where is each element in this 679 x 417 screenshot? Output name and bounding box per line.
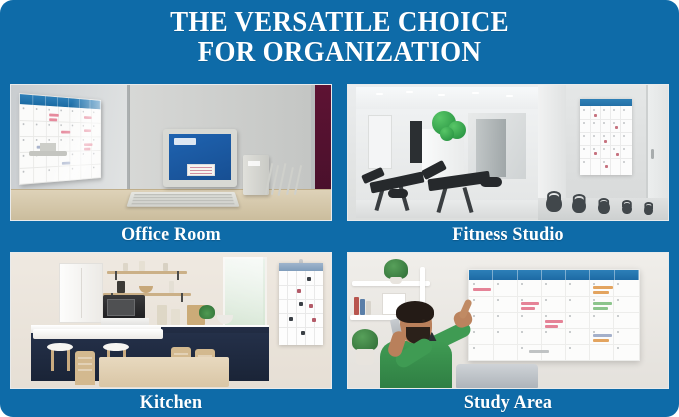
study-plant-pot <box>390 277 402 284</box>
shelf-jar-1 <box>123 263 128 271</box>
caption-fitness-studio: Fitness Studio <box>355 221 661 248</box>
calendar-header <box>580 99 632 106</box>
kettlebell-1 <box>546 195 562 212</box>
kitchen-shelf-top <box>107 271 187 274</box>
title-line-1: THE VERSATILE CHOICE <box>170 6 509 38</box>
monitor-logo <box>174 138 196 145</box>
shelf-bracket-1 <box>115 271 117 280</box>
kitchen-stool-1 <box>47 343 73 351</box>
counter-jar-2 <box>171 309 180 325</box>
exercise-ball-3 <box>440 127 454 141</box>
shelf-jar-2 <box>139 261 145 271</box>
stool-leg-2 <box>67 349 70 371</box>
calendar-header <box>279 263 323 271</box>
study-person <box>366 293 478 389</box>
title-line-2: FOR ORGANIZATION <box>24 37 655 67</box>
dining-chair-1 <box>75 351 95 385</box>
panel-grid: Office Room <box>10 84 669 409</box>
photo-kitchen <box>10 252 332 389</box>
caption-office-room: Office Room <box>18 221 324 248</box>
panel-kitchen: Kitchen <box>10 252 332 416</box>
kitchen-wall-calendar <box>279 263 323 345</box>
kettlebell-4 <box>622 203 632 214</box>
study-books-2 <box>360 299 365 315</box>
poster-root: THE VERSATILE CHOICE FOR ORGANIZATION <box>0 0 679 417</box>
page-title: THE VERSATILE CHOICE FOR ORGANIZATION <box>24 7 655 67</box>
kettlebell-2 <box>572 198 586 213</box>
monitor-screen <box>169 134 231 180</box>
caption-study-area: Study Area <box>355 389 661 416</box>
kitchen-island-top <box>33 329 163 339</box>
fitness-door-left <box>368 115 392 169</box>
photo-office-room <box>10 84 332 221</box>
kettlebell-5 <box>644 205 653 215</box>
office-keyboard <box>126 192 239 207</box>
shelf-bottle <box>169 281 174 293</box>
person-hair <box>396 301 434 323</box>
door-handle-icon <box>651 149 654 159</box>
person-eye <box>422 319 425 322</box>
calendar-grid <box>580 106 632 175</box>
monitor-sticky-note <box>187 164 215 176</box>
study-wall-calendar <box>468 269 640 361</box>
bench-roller-1 <box>480 177 502 187</box>
calendar-header <box>469 270 639 280</box>
kitchen-upper-cabinet <box>59 263 103 323</box>
panel-office-room: Office Room <box>10 84 332 248</box>
office-monitor <box>163 129 237 187</box>
kitchen-dining-table <box>99 357 229 387</box>
kitchen-stool-2 <box>103 343 129 351</box>
person-pointing-hand <box>454 299 476 329</box>
office-wall-corner <box>127 85 130 197</box>
kitchen-microwave <box>103 295 145 319</box>
fitness-ceiling <box>356 87 538 109</box>
counter-jar-1 <box>157 305 167 325</box>
shelf-bracket-2 <box>177 271 179 280</box>
office-cables <box>266 163 316 197</box>
shelf-jar-3 <box>163 263 168 271</box>
calendar-grid <box>279 271 323 345</box>
fitness-floor-back <box>356 200 538 218</box>
study-plant-top <box>384 259 408 279</box>
fitness-equipment-rack <box>476 119 506 177</box>
office-calendar-glare <box>19 93 101 185</box>
fitness-wall-calendar <box>580 99 632 175</box>
monitor-stand-base <box>29 151 67 156</box>
bench-roller-2 <box>388 189 408 198</box>
photo-study-area <box>347 252 669 389</box>
kettlebell-3 <box>598 201 610 214</box>
panel-fitness-studio: Fitness Studio <box>347 84 669 248</box>
stool-leg-1 <box>51 349 54 371</box>
panel-study-area: Study Area <box>347 252 669 416</box>
shelf-canister <box>117 281 125 293</box>
calendar-grid <box>469 280 639 360</box>
kitchen-plant <box>199 305 215 319</box>
fitness-dark-panel <box>410 121 422 163</box>
photo-fitness-studio <box>347 84 669 221</box>
caption-kitchen: Kitchen <box>18 389 324 416</box>
study-books <box>354 297 359 315</box>
shelf-bracket-4 <box>181 293 183 302</box>
